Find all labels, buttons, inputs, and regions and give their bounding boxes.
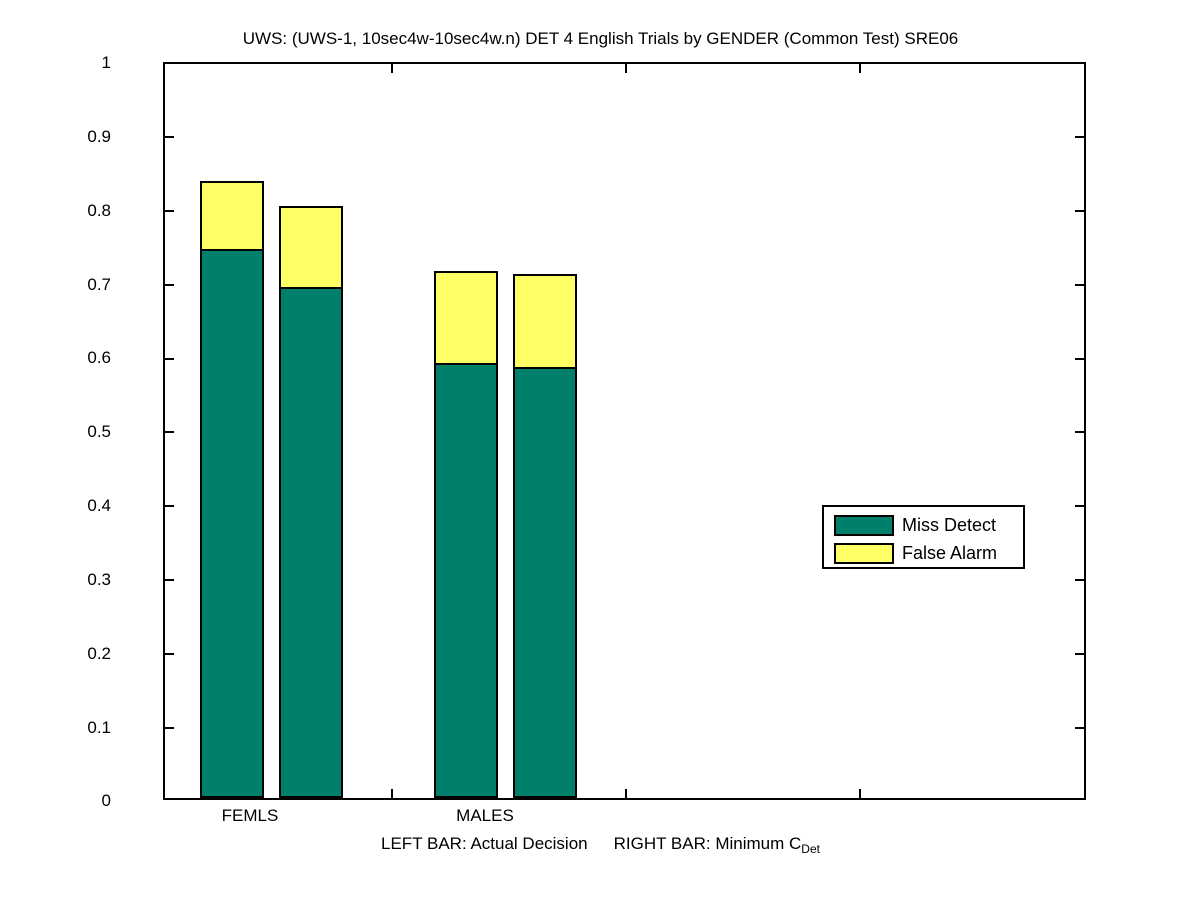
- bar-femls-mincdet[interactable]: [279, 206, 343, 798]
- x-tick-mark-top-2: [625, 64, 627, 73]
- y-tick-mark-right-0-3: [1075, 579, 1084, 581]
- y-tick-mark-right-0-1: [1075, 727, 1084, 729]
- y-tick-mark-right-0-9: [1075, 136, 1084, 138]
- y-tick-mark-right-0-6: [1075, 358, 1084, 360]
- plot-area: [163, 62, 1086, 800]
- legend-swatch-false-alarm: [834, 543, 894, 564]
- y-tick-mark-right-0-7: [1075, 284, 1084, 286]
- plot-inner: [165, 64, 1084, 798]
- footer-annotation: LEFT BAR: Actual DecisionRIGHT BAR: Mini…: [0, 833, 1201, 856]
- bar-femls-actual[interactable]: [200, 181, 264, 798]
- bar-males-mincdet[interactable]: [513, 274, 577, 798]
- x-tick-label-femls: FEMLS: [190, 806, 310, 825]
- y-tick-label-0-9: 0.9: [21, 128, 111, 145]
- y-tick-label-0-8: 0.8: [21, 202, 111, 219]
- y-tick-mark-right-0-4: [1075, 505, 1084, 507]
- bar-segment-miss-detect[interactable]: [513, 367, 577, 798]
- y-tick-mark-0-1: [165, 727, 174, 729]
- x-tick-mark-2: [625, 789, 627, 798]
- bar-segment-miss-detect[interactable]: [434, 363, 498, 798]
- y-tick-mark-0-9: [165, 136, 174, 138]
- x-tick-label-males: MALES: [425, 806, 545, 825]
- y-tick-mark-0-7: [165, 284, 174, 286]
- y-tick-mark-0-5: [165, 431, 174, 433]
- bar-segment-false-alarm[interactable]: [513, 274, 577, 369]
- y-tick-mark-0-3: [165, 579, 174, 581]
- y-tick-label-0-1: 0.1: [21, 719, 111, 736]
- y-tick-mark-0-8: [165, 210, 174, 212]
- footer-left-bar-note: LEFT BAR: Actual Decision: [381, 834, 588, 853]
- bar-segment-false-alarm[interactable]: [200, 181, 264, 251]
- y-tick-mark-right-0-8: [1075, 210, 1084, 212]
- y-tick-mark-0-6: [165, 358, 174, 360]
- y-tick-label-0-5: 0.5: [21, 423, 111, 440]
- legend-label-false-alarm: False Alarm: [902, 541, 997, 565]
- chart-legend[interactable]: Miss Detect False Alarm: [822, 505, 1025, 569]
- bar-segment-false-alarm[interactable]: [434, 271, 498, 365]
- bar-segment-false-alarm[interactable]: [279, 206, 343, 289]
- x-tick-mark-3: [859, 789, 861, 798]
- figure-canvas: UWS: (UWS-1, 10sec4w-10sec4w.n) DET 4 En…: [0, 0, 1201, 900]
- y-tick-label-0-4: 0.4: [21, 497, 111, 514]
- x-tick-mark-top-1: [391, 64, 393, 73]
- y-tick-mark-0-2: [165, 653, 174, 655]
- bar-males-actual[interactable]: [434, 271, 498, 798]
- footer-right-bar-subscript: Det: [801, 842, 820, 856]
- x-tick-mark-1: [391, 789, 393, 798]
- y-tick-mark-0-4: [165, 505, 174, 507]
- legend-label-miss-detect: Miss Detect: [902, 513, 996, 537]
- y-tick-label-0-7: 0.7: [21, 276, 111, 293]
- bar-segment-miss-detect[interactable]: [200, 249, 264, 798]
- y-tick-mark-right-0-5: [1075, 431, 1084, 433]
- footer-right-bar-note: RIGHT BAR: Minimum C: [614, 834, 802, 853]
- y-tick-mark-right-0-2: [1075, 653, 1084, 655]
- y-tick-label-0-2: 0.2: [21, 645, 111, 662]
- legend-swatch-miss-detect: [834, 515, 894, 536]
- y-tick-label-0-6: 0.6: [21, 349, 111, 366]
- y-tick-label-0: 0: [21, 792, 111, 809]
- chart-title: UWS: (UWS-1, 10sec4w-10sec4w.n) DET 4 En…: [0, 29, 1201, 49]
- bar-segment-miss-detect[interactable]: [279, 287, 343, 798]
- x-tick-mark-top-3: [859, 64, 861, 73]
- y-tick-label-1: 1: [21, 54, 111, 71]
- y-tick-label-0-3: 0.3: [21, 571, 111, 588]
